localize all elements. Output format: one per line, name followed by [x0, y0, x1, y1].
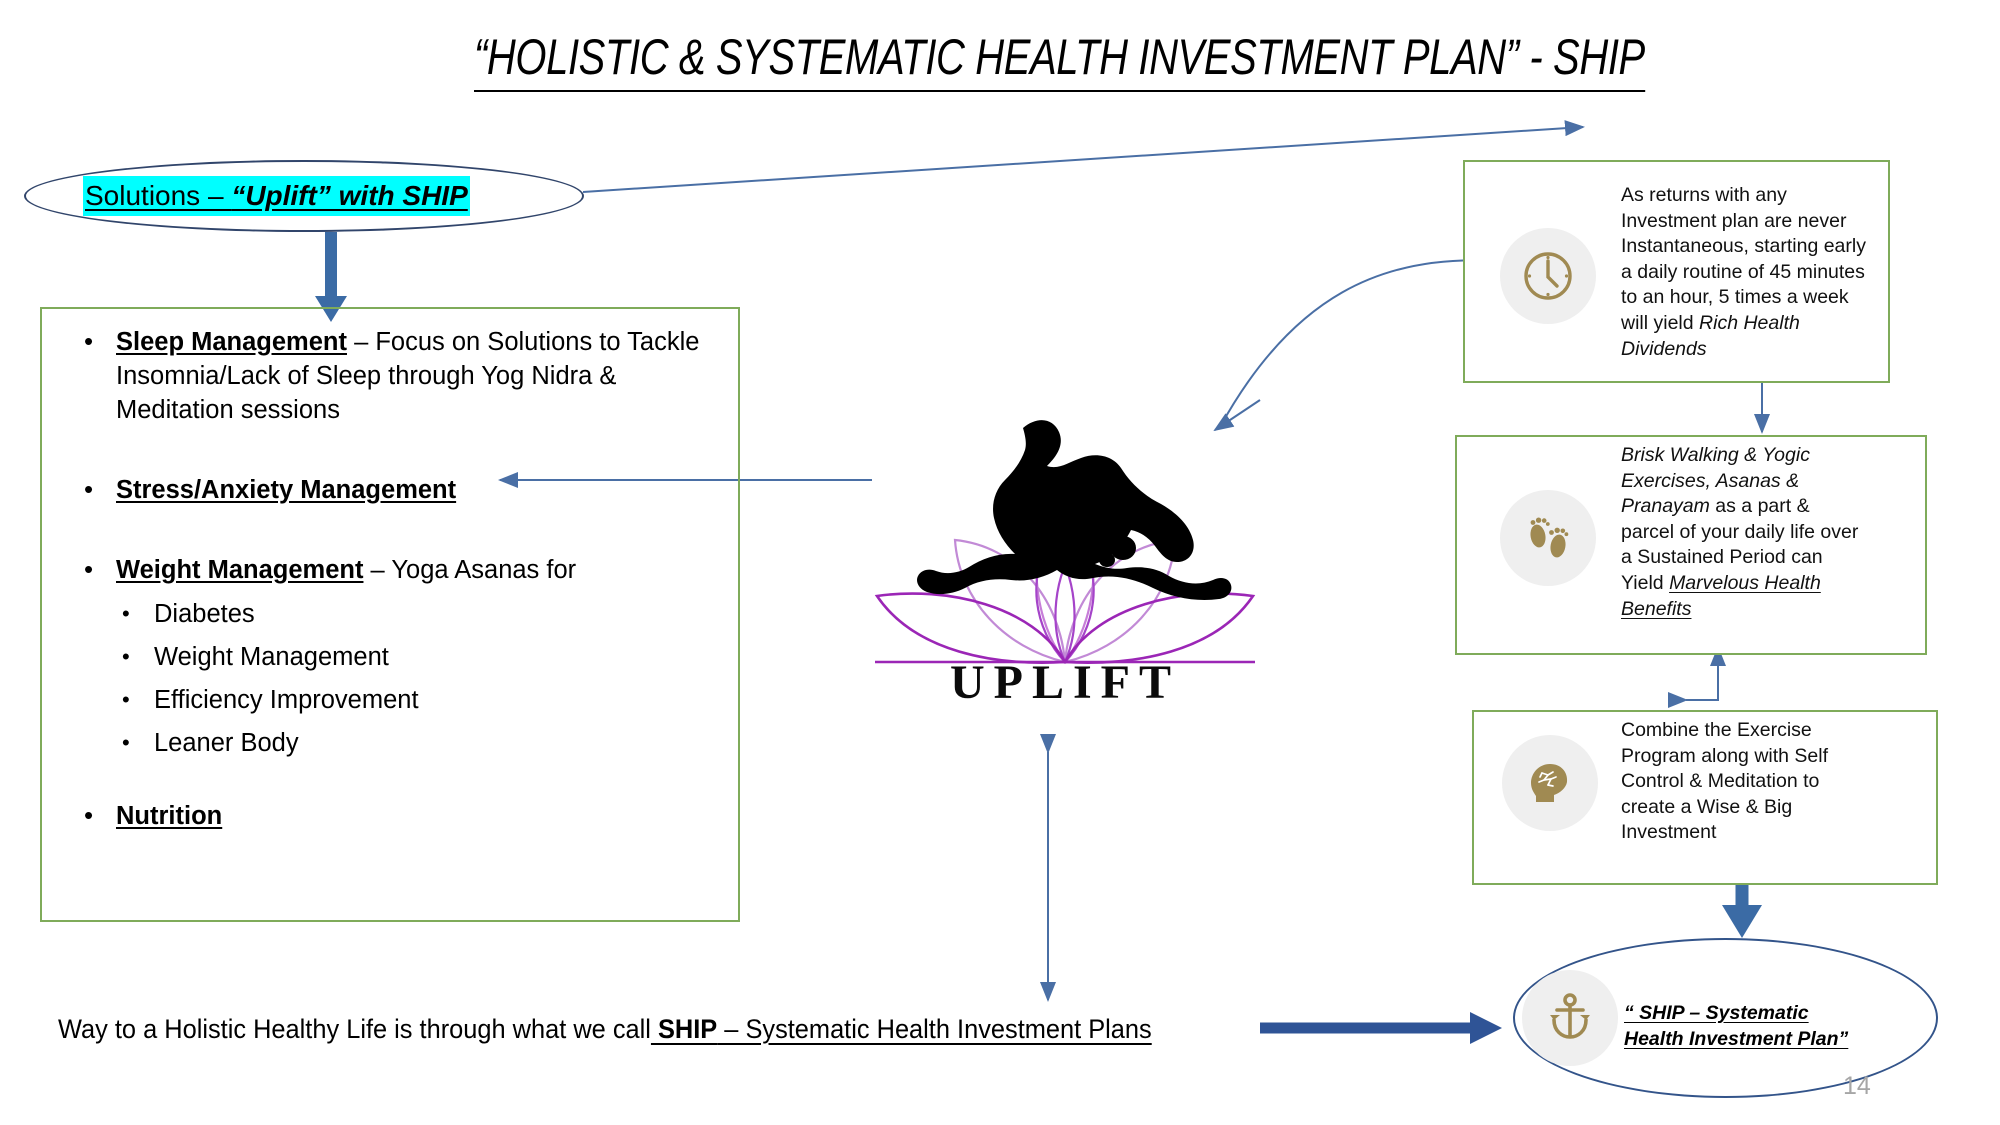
left-bullet-list: Sleep Management – Focus on Solutions to… [72, 325, 712, 839]
bullet-weight-management: Weight Management – Yoga Asanas for [72, 553, 712, 587]
footprints-icon [1520, 510, 1576, 566]
clock-icon-wrap [1500, 228, 1596, 324]
connector-box2-box3 [1686, 648, 1718, 700]
bullet-nutrition: Nutrition [72, 799, 712, 833]
ship-ellipse-text: “ SHIP – Systematic Health Investment Pl… [1624, 1000, 1864, 1052]
combine-text-plain: Combine the Exercise Program along with … [1621, 719, 1828, 843]
bottom-sentence-ship: SHIP [651, 1014, 717, 1044]
solutions-label: Solutions – “Uplift” with SHIP [83, 176, 470, 216]
spacer-2 [72, 513, 712, 553]
sub-bullet-efficiency-improvement: Efficiency Improvement [72, 679, 712, 722]
right-box-returns-text: As returns with any Investment plan are … [1621, 183, 1866, 362]
bullet-stress-anxiety-heading: Stress/Anxiety Management [116, 476, 456, 504]
bullet-sleep-management-heading: Sleep Management [116, 328, 347, 356]
bullet-weight-management-rest: – Yoga Asanas for [363, 556, 576, 584]
clock-icon [1519, 247, 1577, 305]
solutions-label-part2: “Uplift” with SHIP [231, 180, 467, 211]
anchor-icon-wrap [1522, 970, 1618, 1066]
uplift-logo [855, 400, 1275, 690]
anchor-icon [1541, 989, 1599, 1047]
spacer-1 [72, 433, 712, 473]
right-box-brisk-walking-text: Brisk Walking & Yogic Exercises, Asanas … [1621, 443, 1861, 622]
sub-bullet-leaner-body: Leaner Body [72, 722, 712, 765]
right-box-combine-exercise-text: Combine the Exercise Program along with … [1621, 718, 1861, 846]
bullet-sleep-management: Sleep Management – Focus on Solutions to… [72, 325, 712, 427]
page-number: 14 [1843, 1072, 1871, 1101]
sub-bullet-leaner-body-label: Leaner Body [154, 729, 299, 757]
sub-bullet-weight-management-label: Weight Management [154, 643, 389, 671]
sub-bullet-diabetes: Diabetes [72, 593, 712, 636]
bullet-weight-management-heading: Weight Management [116, 556, 363, 584]
bottom-sentence-prefix: Way to a Holistic Healthy Life is throug… [58, 1014, 651, 1044]
bottom-sentence: Way to a Holistic Healthy Life is throug… [58, 1014, 1152, 1045]
brain-head-icon [1522, 755, 1578, 811]
bullet-stress-anxiety-management: Stress/Anxiety Management [72, 473, 712, 507]
spacer-3 [72, 765, 712, 799]
bottom-sentence-rest: – Systematic Health Investment Plans [717, 1014, 1151, 1044]
connector-sentence-to-ship-head [1470, 1012, 1502, 1044]
bullet-nutrition-heading: Nutrition [116, 802, 222, 830]
solutions-label-part1: Solutions – [85, 180, 231, 211]
connector-box3-to-ship-head [1722, 905, 1762, 938]
page-title: “HOLISTIC & SYSTEMATIC HEALTH INVESTMENT… [474, 28, 1626, 92]
footprints-icon-wrap [1500, 490, 1596, 586]
sub-bullet-diabetes-label: Diabetes [154, 600, 255, 628]
slide-canvas: “HOLISTIC & SYSTEMATIC HEALTH INVESTMENT… [0, 0, 2000, 1125]
sub-bullet-weight-management: Weight Management [72, 636, 712, 679]
arrow-solutions-to-leftbox [325, 232, 337, 302]
brain-head-icon-wrap [1502, 735, 1598, 831]
connector-solutions-to-topright [583, 127, 1583, 192]
page-title-text: “HOLISTIC & SYSTEMATIC HEALTH INVESTMENT… [474, 28, 1645, 92]
sub-bullet-efficiency-improvement-label: Efficiency Improvement [154, 686, 419, 714]
uplift-wordmark: UPLIFT [855, 655, 1275, 710]
